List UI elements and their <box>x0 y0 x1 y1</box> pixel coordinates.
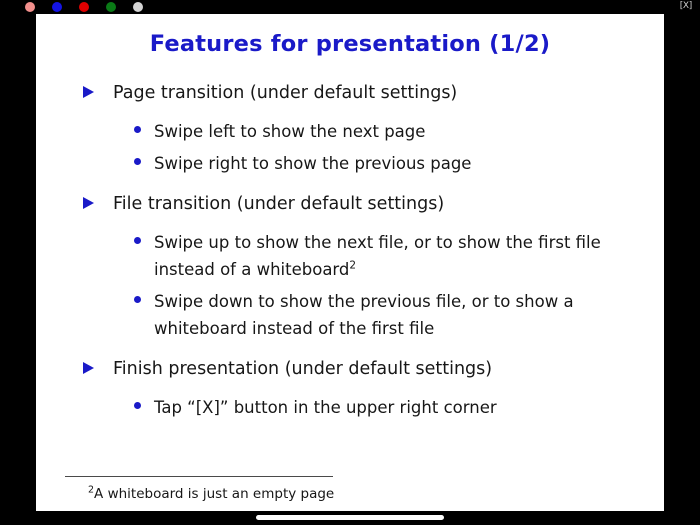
sub-item-list: Tap “[X]” button in the upper right corn… <box>36 394 664 421</box>
section-file-transition: File transition (under default settings)… <box>36 191 664 342</box>
round-bullet-icon <box>134 237 141 244</box>
round-bullet-icon <box>134 296 141 303</box>
section-finish-presentation: Finish presentation (under default setti… <box>36 356 664 421</box>
footnote-label: A whiteboard is just an empty page <box>94 486 334 502</box>
home-indicator[interactable] <box>256 515 444 520</box>
triangle-bullet-icon <box>83 362 94 374</box>
status-dot-red[interactable] <box>79 2 89 12</box>
list-item: Swipe right to show the previous page <box>36 150 664 177</box>
sub-item-list: Swipe left to show the next page Swipe r… <box>36 118 664 177</box>
status-dot-green[interactable] <box>106 2 116 12</box>
section-page-transition: Page transition (under default settings)… <box>36 80 664 177</box>
triangle-bullet-icon <box>83 197 94 209</box>
status-dot-blue[interactable] <box>52 2 62 12</box>
section-heading-row: Finish presentation (under default setti… <box>36 356 664 389</box>
footnote-divider <box>65 476 333 477</box>
list-item-text: Swipe up to show the next file, or to sh… <box>154 233 601 279</box>
status-bar: [X] <box>0 0 700 14</box>
list-item: Swipe down to show the previous file, or… <box>36 288 664 342</box>
close-button[interactable]: [X] <box>680 0 692 13</box>
triangle-bullet-icon <box>83 86 94 98</box>
list-item: Swipe left to show the next page <box>36 118 664 145</box>
section-heading-row: Page transition (under default settings) <box>36 80 664 113</box>
footnote: 2A whiteboard is just an empty page <box>88 486 334 502</box>
section-heading: Finish presentation (under default setti… <box>113 359 492 379</box>
list-item: Tap “[X]” button in the upper right corn… <box>36 394 664 421</box>
slide-page: Features for presentation (1/2) Page tra… <box>36 14 664 511</box>
status-dot-pink[interactable] <box>25 2 35 12</box>
list-item-label: Swipe left to show the next page <box>154 122 425 141</box>
list-item-label: Swipe down to show the previous file, or… <box>154 292 574 338</box>
page-title: Features for presentation (1/2) <box>36 31 664 57</box>
section-heading-row: File transition (under default settings) <box>36 191 664 224</box>
list-item-label: Swipe right to show the previous page <box>154 154 471 173</box>
list-item: Swipe up to show the next file, or to sh… <box>36 229 664 283</box>
slide-body: Page transition (under default settings)… <box>36 80 664 423</box>
list-item-label: Swipe up to show the next file, or to sh… <box>154 233 601 279</box>
footnote-reference: 2 <box>349 260 356 272</box>
section-heading: Page transition (under default settings) <box>113 83 457 103</box>
sub-item-list: Swipe up to show the next file, or to sh… <box>36 229 664 342</box>
list-item-label: Tap “[X]” button in the upper right corn… <box>154 398 497 417</box>
round-bullet-icon <box>134 126 141 133</box>
round-bullet-icon <box>134 158 141 165</box>
status-dot-gray[interactable] <box>133 2 143 12</box>
section-heading: File transition (under default settings) <box>113 194 444 214</box>
round-bullet-icon <box>134 402 141 409</box>
device-screen: [X] Features for presentation (1/2) Page… <box>0 0 700 525</box>
